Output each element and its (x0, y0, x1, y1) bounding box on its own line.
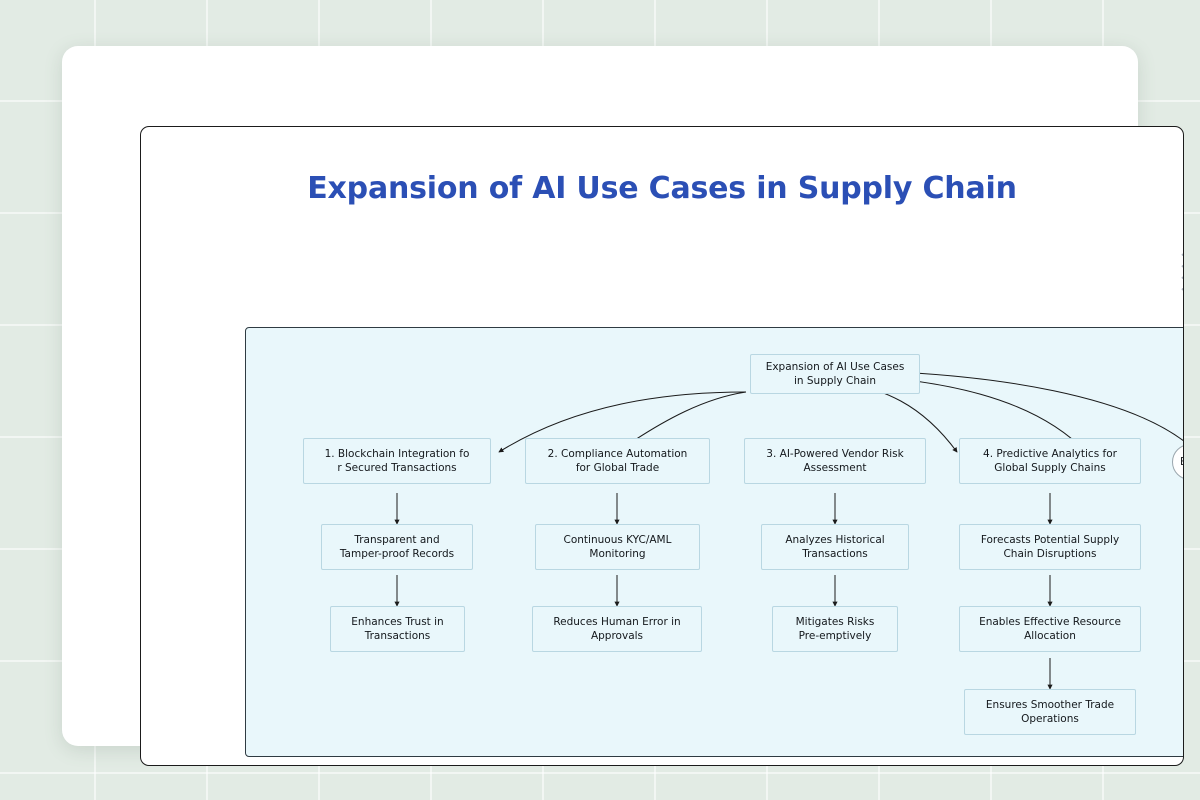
flowchart-node-branch-3-step-2[interactable]: Mitigates Risks Pre-emptively (772, 606, 898, 652)
decorative-dot-grid-top-right (1177, 249, 1184, 295)
flowchart-node-branch-2-header[interactable]: 2. Compliance Automation for Global Trad… (525, 438, 710, 484)
flowchart-node-branch-4-step-2[interactable]: Enables Effective Resource Allocation (959, 606, 1141, 652)
flowchart-node-branch-2-step-1[interactable]: Continuous KYC/AML Monitoring (535, 524, 700, 570)
page-background: Expansion of AI Use Cases in Supply Chai… (0, 0, 1200, 800)
page-title: Expansion of AI Use Cases in Supply Chai… (141, 171, 1183, 206)
flowchart-node-branch-1-step-2[interactable]: Enhances Trust in Transactions (330, 606, 465, 652)
outer-card: Expansion of AI Use Cases in Supply Chai… (62, 46, 1138, 746)
flowchart-node-branch-3-step-1[interactable]: Analyzes Historical Transactions (761, 524, 909, 570)
flowchart-container: Expansion of AI Use Cases in Supply Chai… (245, 327, 1184, 757)
flowchart-node-branch-4-step-3[interactable]: Ensures Smoother Trade Operations (964, 689, 1136, 735)
inner-panel: Expansion of AI Use Cases in Supply Chai… (140, 126, 1184, 766)
flowchart-node-branch-2-step-2[interactable]: Reduces Human Error in Approvals (532, 606, 702, 652)
flowchart-node-branch-1-step-1[interactable]: Transparent and Tamper-proof Records (321, 524, 473, 570)
flowchart-node-branch-3-header[interactable]: 3. AI-Powered Vendor Risk Assessment (744, 438, 926, 484)
flowchart-node-root[interactable]: Expansion of AI Use Cases in Supply Chai… (750, 354, 920, 394)
flowchart-node-branch-1-header[interactable]: 1. Blockchain Integration fo r Secured T… (303, 438, 491, 484)
flowchart-node-branch-4-step-1[interactable]: Forecasts Potential Supply Chain Disrupt… (959, 524, 1141, 570)
flowchart-node-branch-4-header[interactable]: 4. Predictive Analytics for Global Suppl… (959, 438, 1141, 484)
